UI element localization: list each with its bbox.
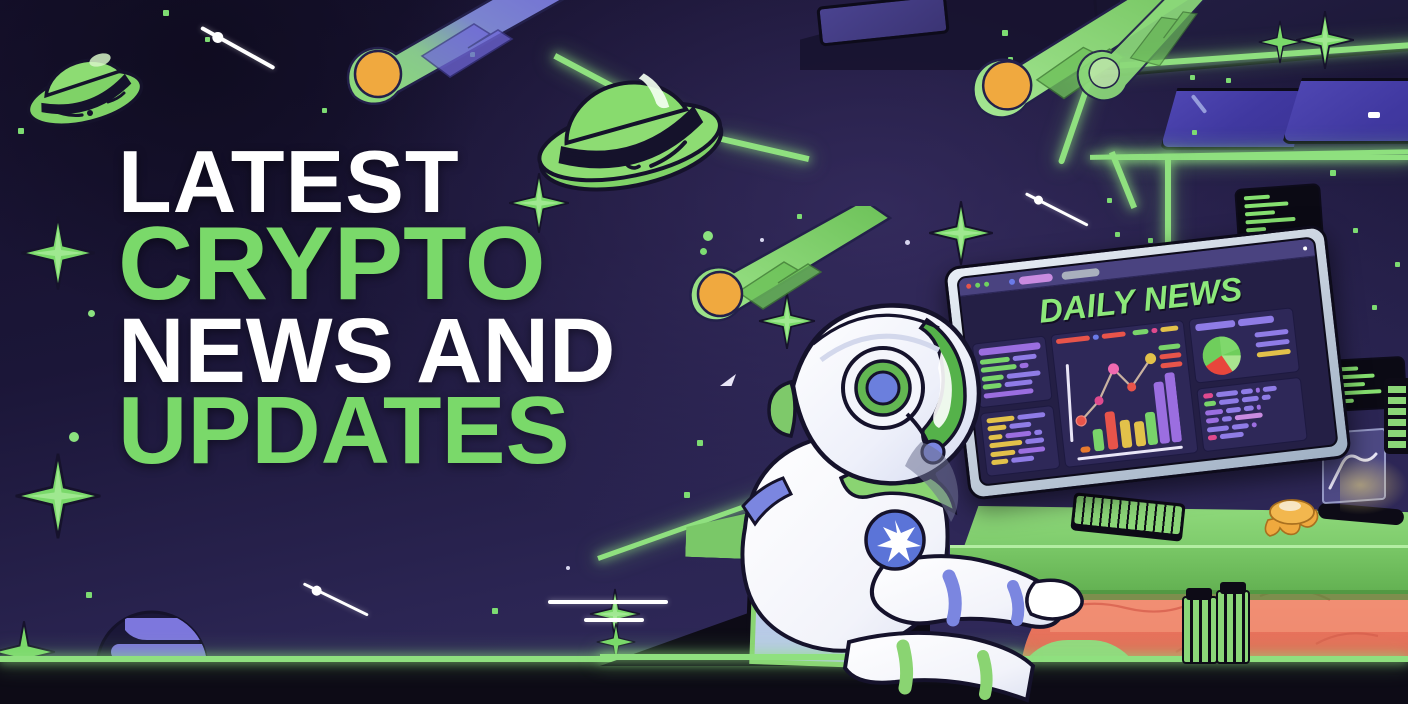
desk-orange-object bbox=[1258, 492, 1326, 545]
speed-line bbox=[548, 600, 668, 604]
star-square bbox=[322, 108, 327, 113]
star-square bbox=[1148, 238, 1153, 243]
star-square bbox=[1107, 198, 1112, 203]
window-dot-minimize[interactable] bbox=[975, 282, 981, 288]
terminal-line bbox=[1244, 195, 1270, 201]
astronaut-helmet-ear bbox=[769, 382, 795, 436]
window-dot-maximize[interactable] bbox=[984, 281, 990, 287]
panel-right-top-legend bbox=[1254, 329, 1291, 358]
astronaut-arm-band bbox=[949, 576, 955, 620]
sparkle-star bbox=[14, 452, 102, 540]
star-round bbox=[88, 310, 95, 317]
star-round bbox=[69, 432, 79, 442]
sparkle-star bbox=[928, 200, 994, 266]
star-square bbox=[1395, 262, 1400, 267]
astronaut-leg-band bbox=[903, 646, 907, 688]
astronaut-arm-band-2 bbox=[1013, 586, 1018, 620]
banner-illustration: DAILY NEWS bbox=[0, 0, 1408, 704]
star-square bbox=[1353, 228, 1358, 233]
astronaut bbox=[735, 290, 1095, 704]
headline-line-2: CRYPTO bbox=[118, 217, 615, 313]
star-square bbox=[684, 492, 690, 498]
menu-dot[interactable] bbox=[1303, 246, 1307, 250]
star-square bbox=[1330, 170, 1336, 176]
page-title: LATEST CRYPTO NEWS AND UPDATES bbox=[118, 142, 615, 476]
sparkle-star bbox=[20, 215, 96, 291]
speed-line bbox=[584, 618, 644, 622]
terminal-line bbox=[1245, 217, 1295, 224]
astronaut-comms-lens bbox=[867, 372, 899, 404]
browser-tab[interactable] bbox=[1018, 273, 1053, 285]
panel-right-top[interactable] bbox=[1188, 307, 1300, 383]
desk-yellow-glow bbox=[1340, 455, 1408, 515]
wall-module-slats bbox=[1384, 378, 1408, 454]
astronaut-legs bbox=[845, 633, 1033, 700]
astronaut-leg-band-2 bbox=[983, 656, 987, 694]
panel-right-bottom[interactable] bbox=[1196, 376, 1308, 452]
ufo-small-left bbox=[22, 26, 148, 141]
astronaut-glove bbox=[1027, 580, 1082, 619]
pie-chart bbox=[1197, 331, 1246, 380]
tab-favicon bbox=[1009, 278, 1016, 285]
terminal-line bbox=[1245, 210, 1275, 216]
star-square bbox=[163, 10, 169, 16]
star-square bbox=[205, 37, 210, 42]
headline-line-4: UPDATES bbox=[118, 387, 615, 475]
star-square bbox=[86, 592, 92, 598]
window-dot-close[interactable] bbox=[966, 283, 972, 289]
foreground-floor bbox=[0, 662, 1408, 704]
star-square bbox=[492, 608, 498, 614]
star-square bbox=[1372, 305, 1377, 310]
star-white bbox=[566, 566, 570, 570]
star-square bbox=[697, 440, 703, 446]
terminal-line bbox=[1244, 201, 1288, 208]
address-bar[interactable] bbox=[1061, 267, 1100, 279]
star-square bbox=[1115, 232, 1120, 237]
dashboard-right-column bbox=[1188, 307, 1307, 452]
